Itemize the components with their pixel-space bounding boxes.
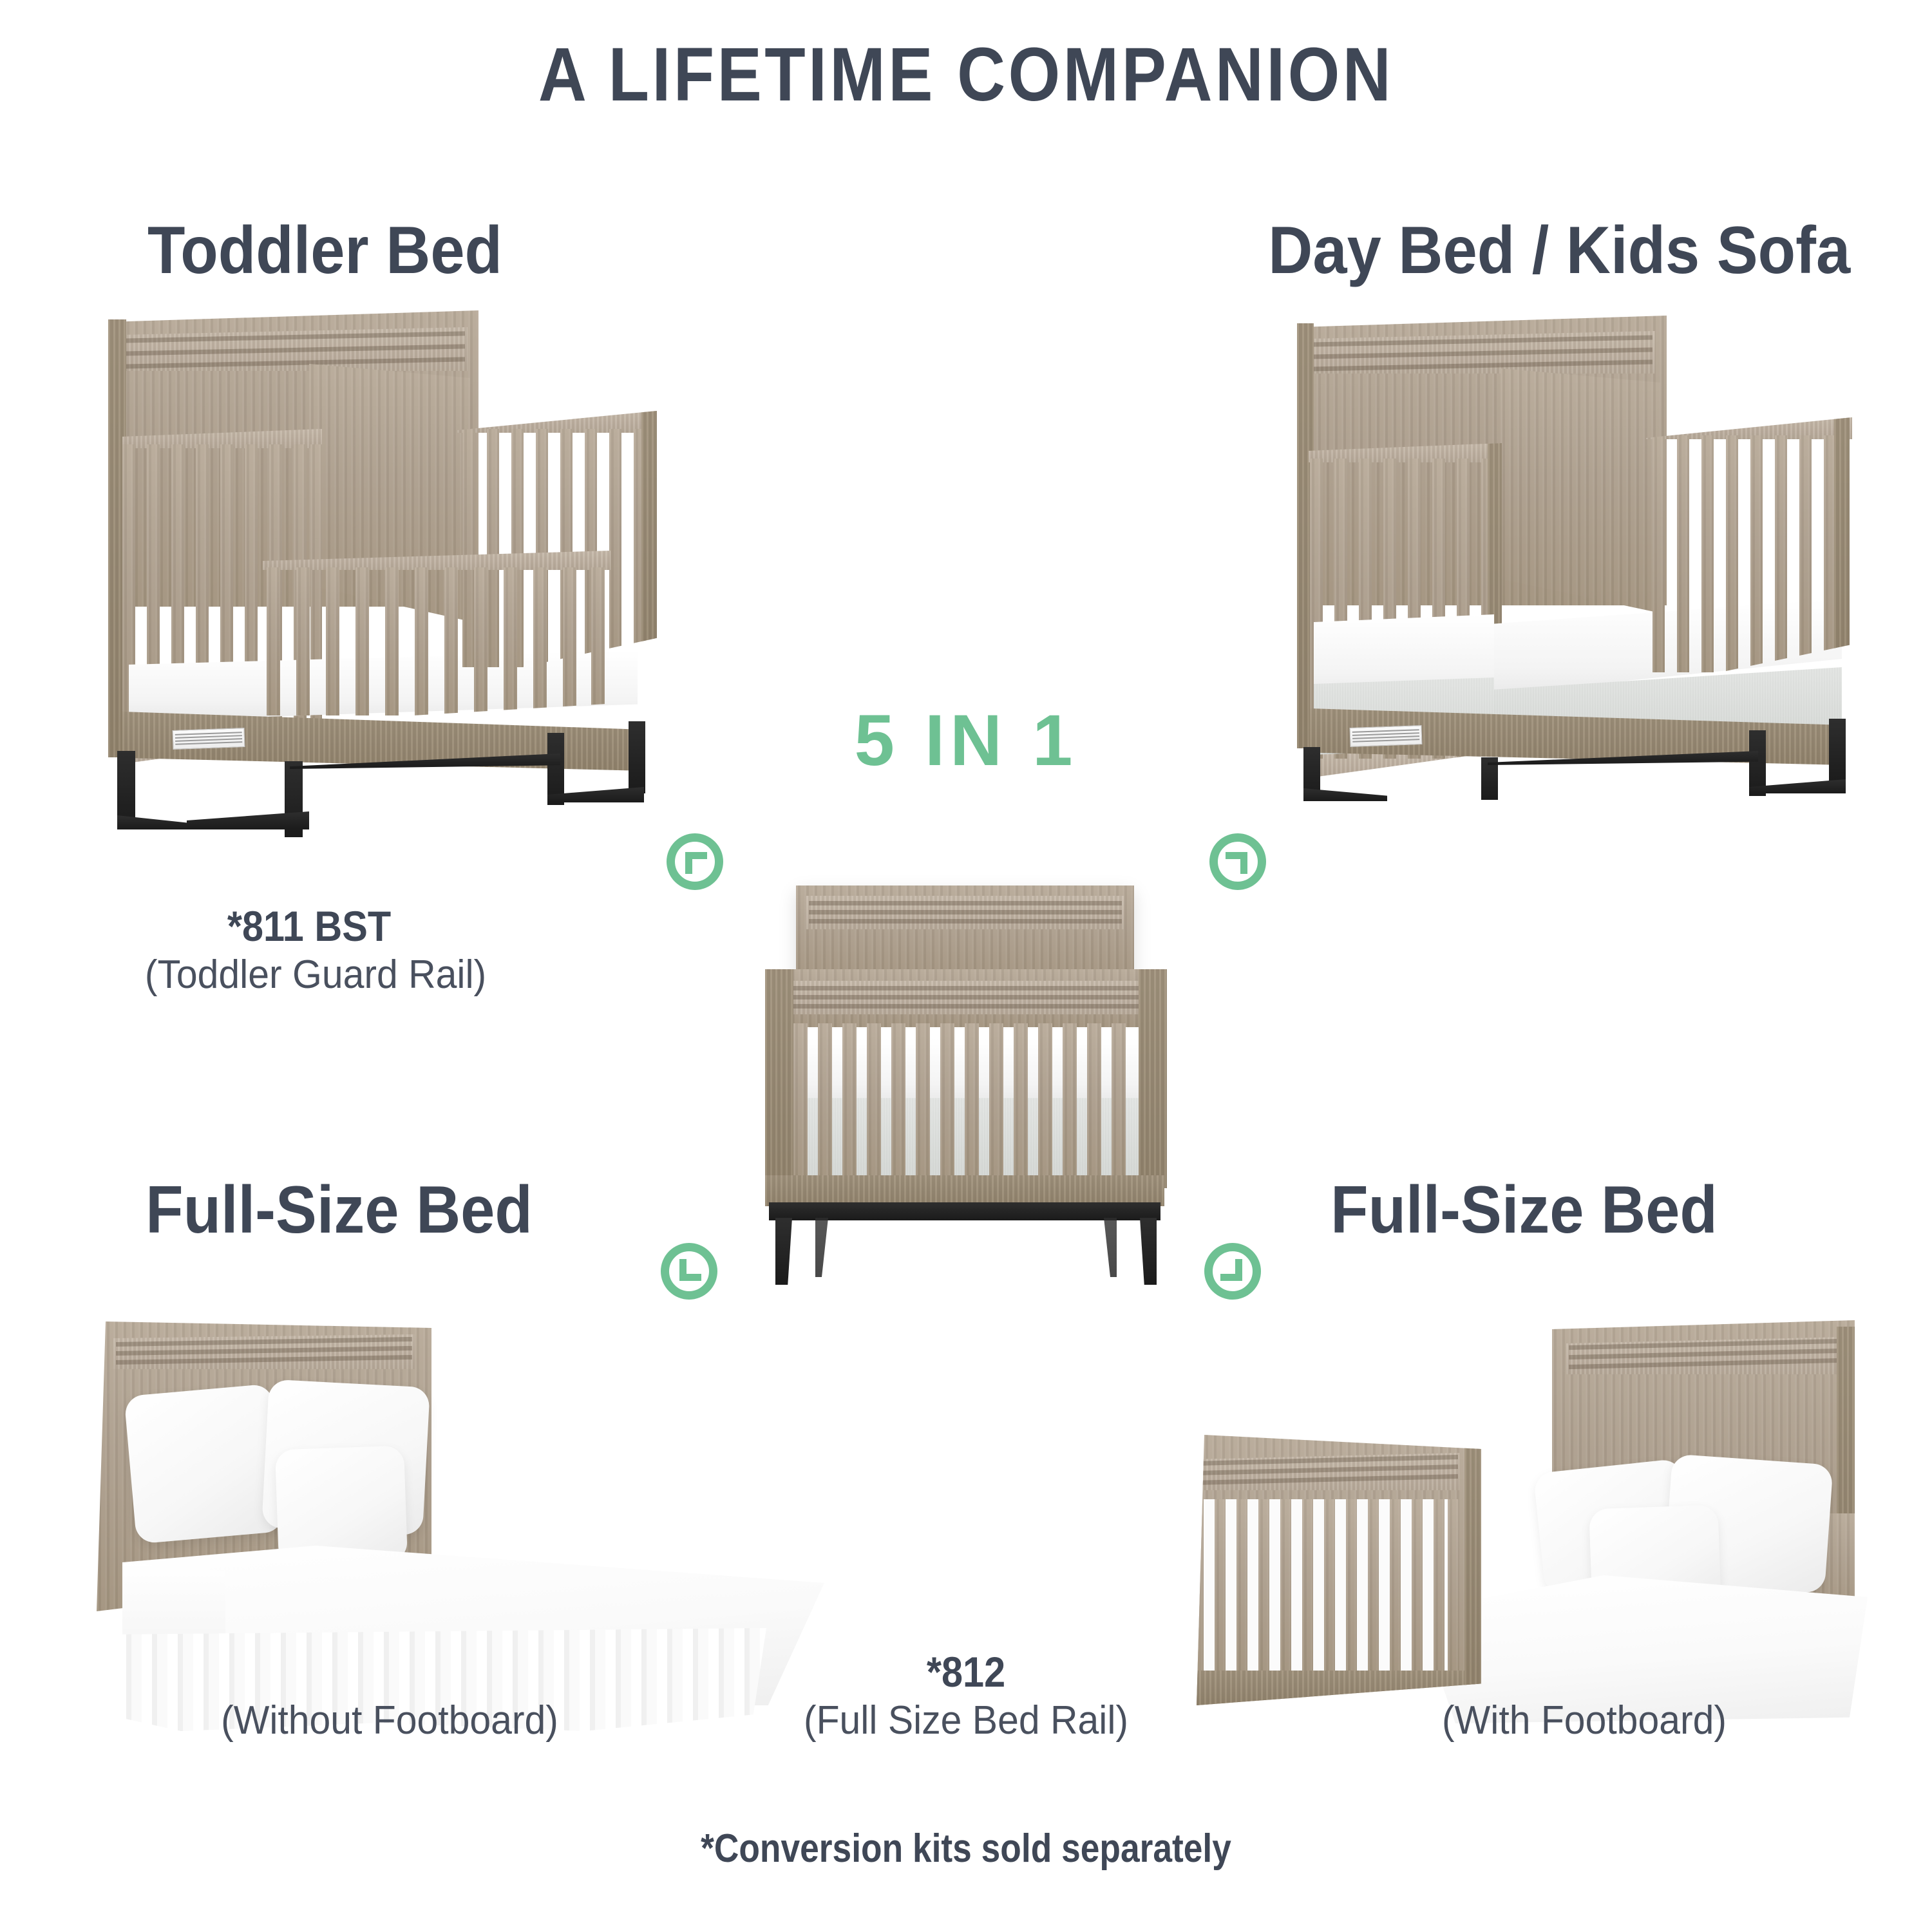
spec-sticker xyxy=(173,728,245,750)
pillow-back-left xyxy=(124,1383,284,1544)
label-without-footboard: (Without Footboard) xyxy=(148,1698,632,1743)
product-toddler-bed xyxy=(97,303,676,824)
label-code-811: *811 BST xyxy=(147,902,471,951)
arrow-badge-bottom-right xyxy=(1204,1243,1261,1300)
headboard-slat-detail xyxy=(122,334,465,371)
heading-toddler-bed: Toddler Bed xyxy=(147,213,502,289)
corner-bracket-top-left-icon xyxy=(685,852,707,874)
label-kit-full-size-bed-rail: (Full Size Bed Rail) xyxy=(758,1698,1174,1743)
five-in-one-badge: 5 IN 1 xyxy=(773,699,1159,782)
arrow-badge-bottom-left xyxy=(661,1243,717,1300)
label-code-812: *812 xyxy=(836,1647,1097,1696)
product-full-size-bed-with-footboard xyxy=(1179,1320,1932,1694)
corner-bracket-top-right-icon xyxy=(1226,852,1247,874)
product-day-bed xyxy=(1288,309,1868,799)
arrow-badge-top-left xyxy=(667,833,723,890)
product-crib xyxy=(760,885,1172,1285)
label-with-footboard: (With Footboard) xyxy=(1370,1698,1799,1743)
product-full-size-bed-without-footboard xyxy=(97,1320,869,1681)
arrow-badge-top-right xyxy=(1209,833,1266,890)
infographic-canvas: A LIFETIME COMPANION Toddler Bed Day Bed… xyxy=(0,0,1932,1932)
crib-front-slats xyxy=(793,1023,1139,1179)
headboard-slat-detail xyxy=(809,900,1122,928)
headboard-slat-detail xyxy=(1312,337,1653,374)
headboard-slat-detail xyxy=(116,1338,412,1367)
corner-bracket-bottom-right-icon xyxy=(1220,1259,1242,1281)
page-title: A LIFETIME COMPANION xyxy=(116,31,1816,118)
heading-full-size-bed-right: Full-Size Bed xyxy=(1331,1172,1718,1249)
headboard-slat-detail xyxy=(1569,1341,1842,1372)
heading-full-size-bed-left: Full-Size Bed xyxy=(146,1172,533,1249)
toddler-guard-rail xyxy=(263,551,611,724)
footer-disclaimer: *Conversion kits sold separately xyxy=(135,1826,1797,1871)
front-rail-slat-detail xyxy=(790,985,1140,1013)
heading-day-bed: Day Bed / Kids Sofa xyxy=(1268,213,1850,289)
spec-sticker xyxy=(1350,725,1423,747)
footboard xyxy=(1179,1435,1481,1705)
label-kit-toddler-guard-rail: (Toddler Guard Rail) xyxy=(108,952,524,998)
corner-bracket-bottom-left-icon xyxy=(679,1259,701,1281)
